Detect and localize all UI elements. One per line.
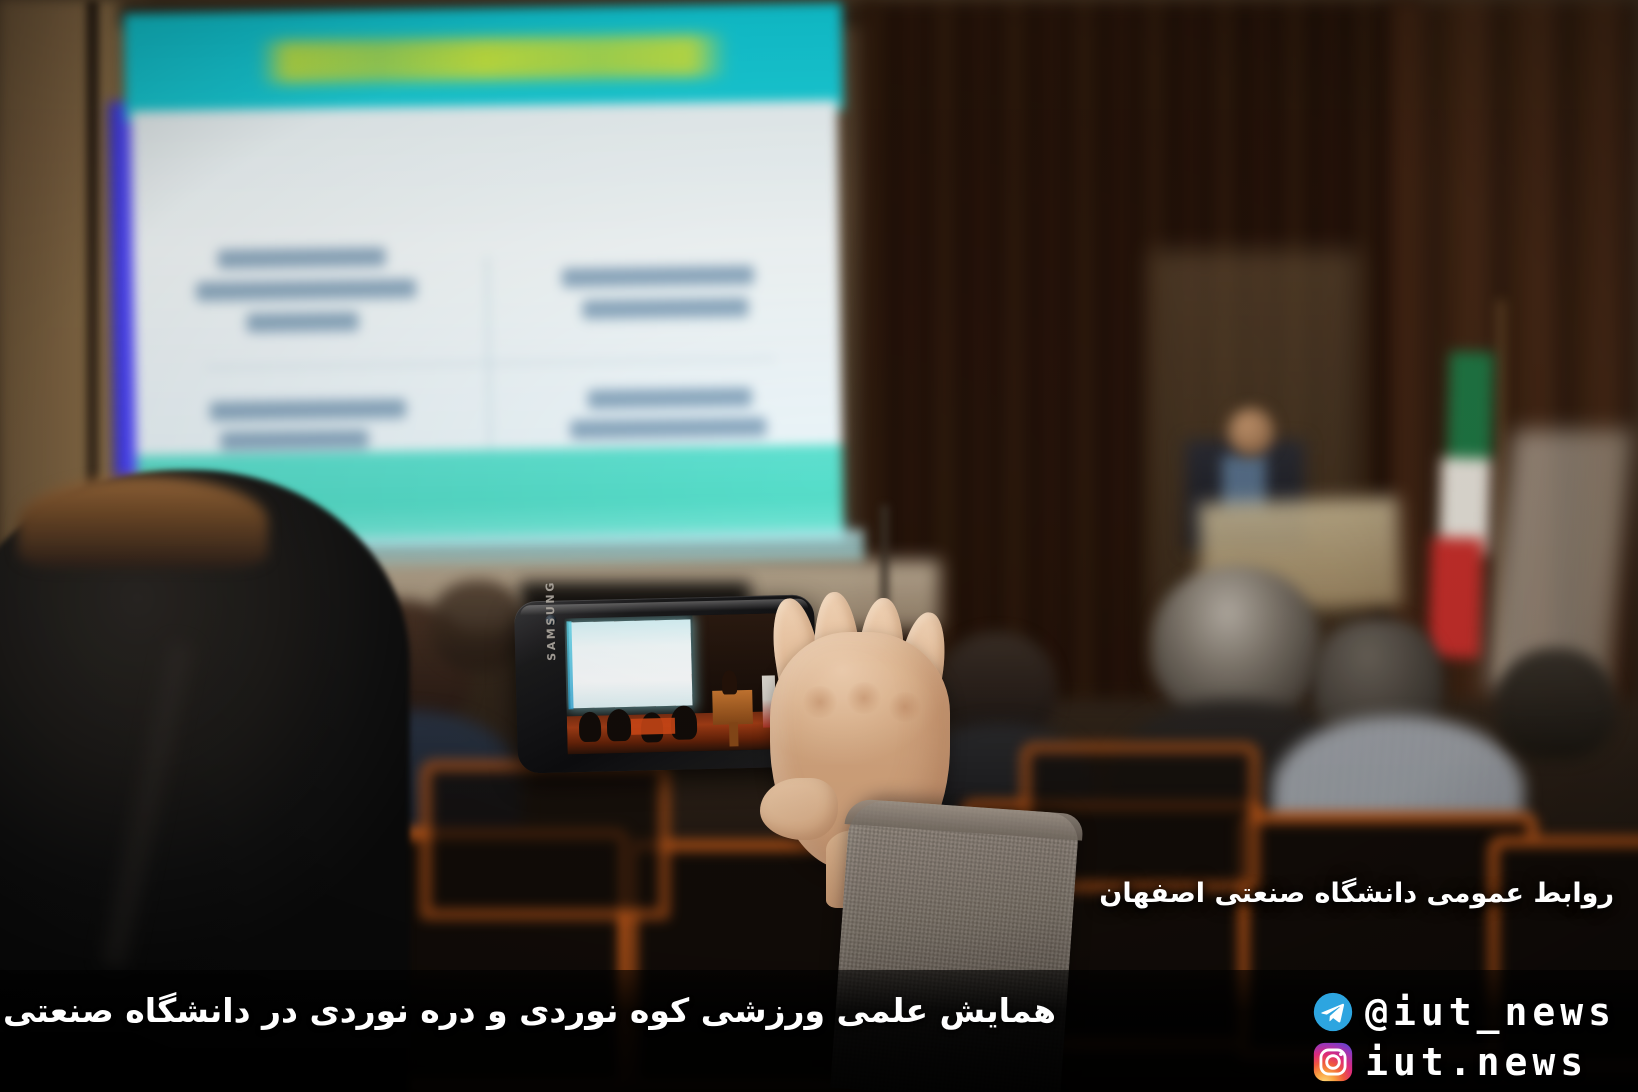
auditorium-chair [420, 760, 670, 920]
thumb [760, 778, 838, 840]
telegram-handle-label[interactable]: @iut_news [1365, 990, 1616, 1034]
foreground-person-hair [18, 476, 268, 568]
speaker-head [1228, 408, 1274, 456]
public-relations-credit: روابط عمومی دانشگاه صنعتی اصفهان [1099, 878, 1614, 909]
instagram-icon[interactable] [1313, 1042, 1353, 1082]
preview-audience-head [607, 709, 632, 742]
caption-headline: همایش علمی ورزشی کوه نوردی و دره نوردی د… [0, 992, 1078, 1031]
instagram-handle-row[interactable]: iut.news [1313, 1040, 1588, 1084]
knuckle-shadow [844, 682, 884, 714]
preview-projection-screen [568, 619, 692, 708]
slide-body [131, 100, 842, 463]
audience-head-gray-hair [1152, 566, 1320, 722]
conference-photo: SAMSUNG [0, 0, 1638, 1092]
slide-text-block [196, 279, 416, 301]
audience-head [1496, 648, 1616, 760]
preview-podium-column [729, 722, 739, 746]
instagram-handle-label[interactable]: iut.news [1365, 1040, 1588, 1084]
slide-text-block [562, 266, 754, 288]
wall-dark-stripe [86, 0, 99, 540]
telegram-handle-row[interactable]: @iut_news [1313, 990, 1616, 1034]
flag-green-band [1447, 352, 1494, 473]
preview-speaker [722, 670, 738, 694]
preview-audience-head [579, 712, 602, 743]
slide-title-text-blurred [258, 34, 729, 83]
slide-text-block [588, 388, 752, 410]
slide-text-block [217, 248, 385, 270]
slide-text-block [210, 399, 406, 421]
flag-red-band [1428, 537, 1483, 658]
phone-brand-label: SAMSUNG [543, 580, 558, 661]
slide-text-block [246, 312, 358, 333]
knuckle-shadow [886, 692, 924, 722]
preview-podium [712, 690, 753, 725]
slide-text-block [570, 418, 766, 440]
slide-text-block [220, 430, 368, 451]
knuckle-shadow [800, 686, 840, 718]
telegram-icon[interactable] [1313, 992, 1353, 1032]
iran-flag [1428, 351, 1494, 652]
slide-text-block [582, 298, 748, 320]
audience-head [430, 580, 526, 670]
social-handles: @iut_news iut.n [1313, 990, 1616, 1084]
preview-seat-back [631, 718, 675, 735]
